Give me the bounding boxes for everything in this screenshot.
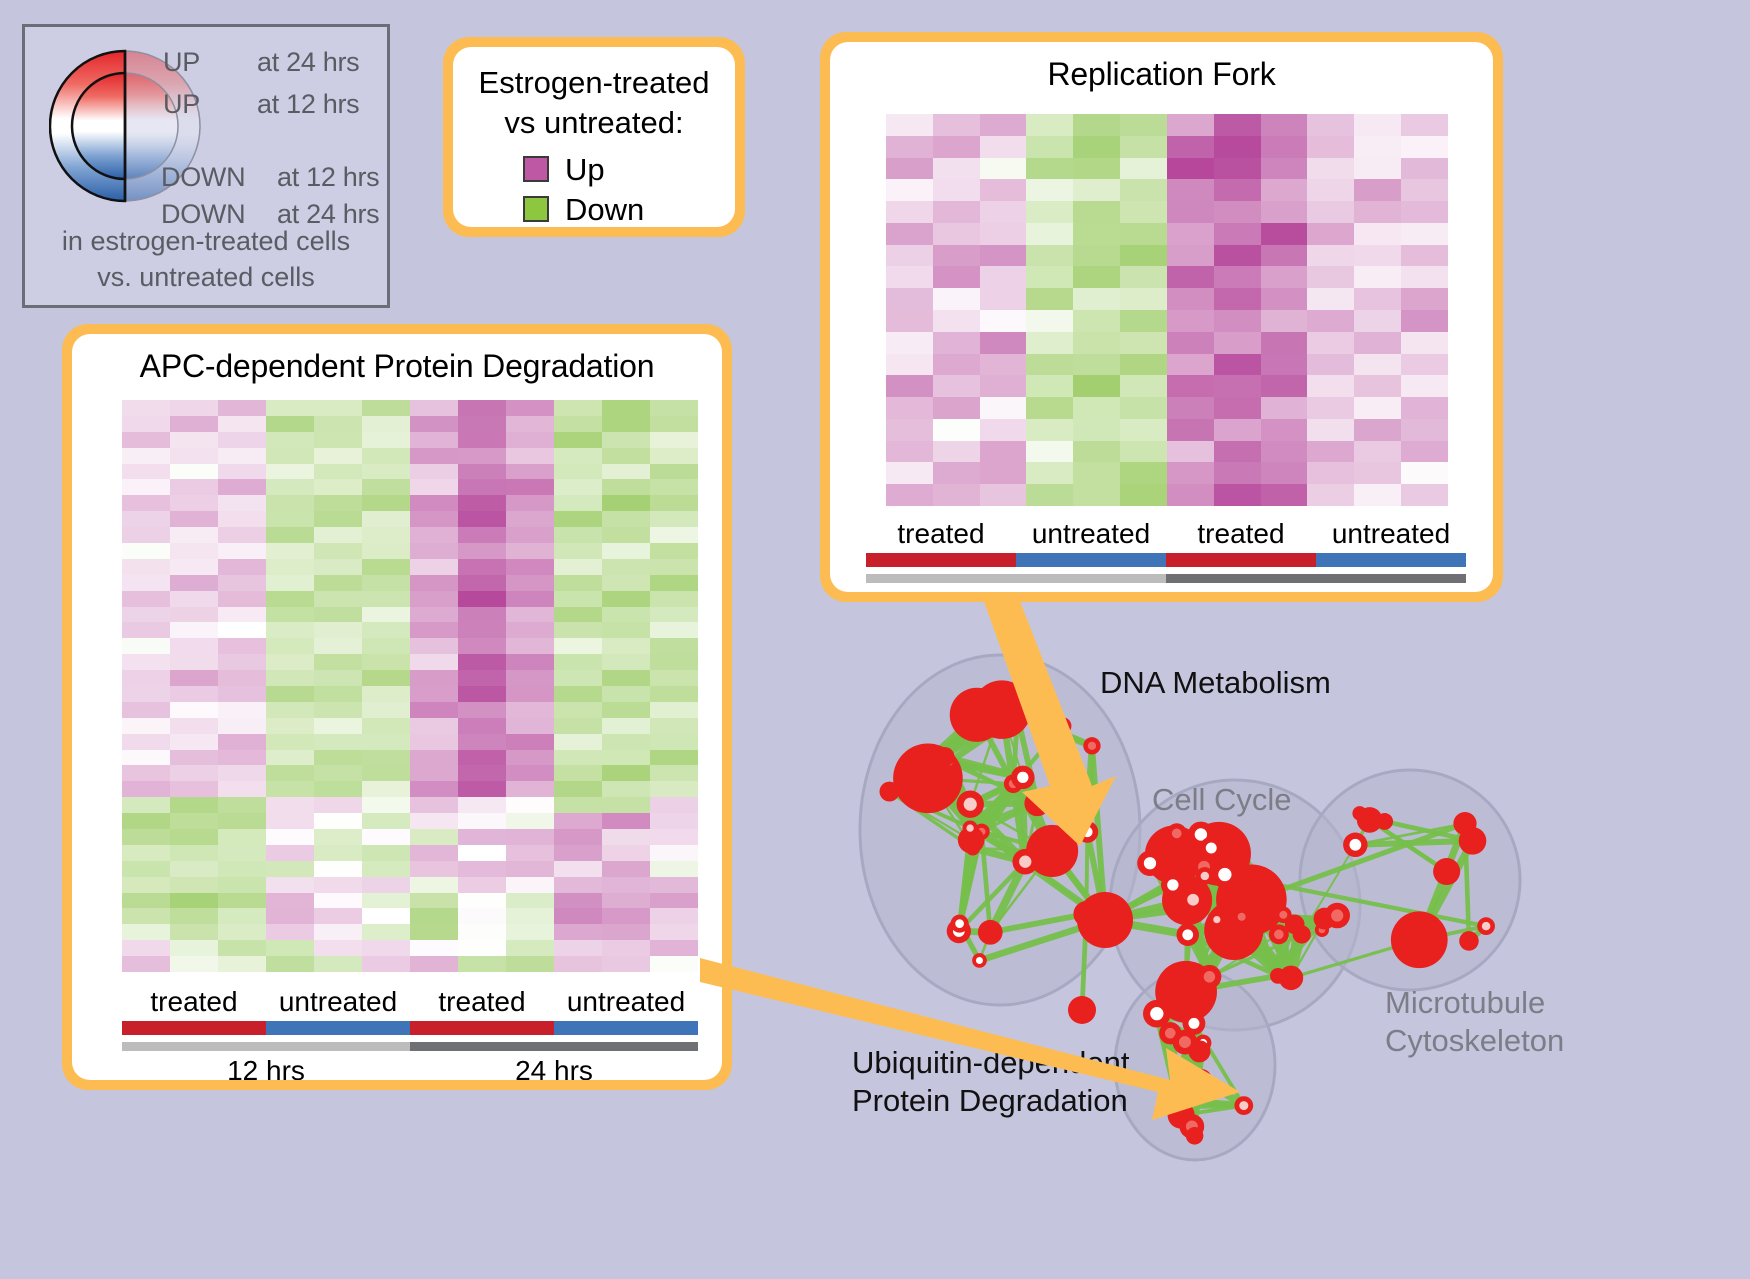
- network-node[interactable]: [1181, 887, 1205, 911]
- network-node[interactable]: [1161, 873, 1185, 897]
- network-node[interactable]: [1200, 837, 1223, 860]
- network-node[interactable]: [1293, 925, 1311, 943]
- network-node[interactable]: [935, 747, 955, 767]
- network-node[interactable]: [1459, 931, 1479, 951]
- cluster-label-cell-cycle: Cell Cycle: [1152, 781, 1292, 819]
- network-node[interactable]: [1211, 861, 1239, 889]
- network-node[interactable]: [1324, 903, 1350, 929]
- network-node[interactable]: [1012, 849, 1038, 875]
- network-node[interactable]: [1234, 847, 1249, 862]
- network-node[interactable]: [1279, 966, 1303, 990]
- network-node[interactable]: [1376, 813, 1393, 830]
- cluster-label-microtubule-cytoskeleton: Microtubule Cytoskeleton: [1385, 984, 1535, 1060]
- network-node[interactable]: [1269, 924, 1289, 944]
- network-node[interactable]: [1477, 917, 1495, 935]
- network-node[interactable]: [922, 751, 937, 766]
- network-node[interactable]: [1137, 850, 1163, 876]
- network-node[interactable]: [1391, 911, 1448, 968]
- arrow-to-dna-metabolism: [960, 596, 1140, 846]
- network-node[interactable]: [1186, 1127, 1204, 1145]
- network-node[interactable]: [1459, 827, 1487, 855]
- network-node[interactable]: [1433, 858, 1460, 885]
- network-node[interactable]: [1352, 806, 1367, 821]
- network-node[interactable]: [879, 782, 899, 802]
- network-node[interactable]: [1222, 902, 1237, 917]
- network-node[interactable]: [1209, 912, 1224, 927]
- network-node[interactable]: [1196, 867, 1214, 885]
- network-node[interactable]: [1167, 823, 1187, 843]
- arrow-to-ubiquitin-degradation: [700, 940, 1240, 1120]
- network-node[interactable]: [951, 915, 969, 933]
- network-node[interactable]: [1343, 833, 1367, 857]
